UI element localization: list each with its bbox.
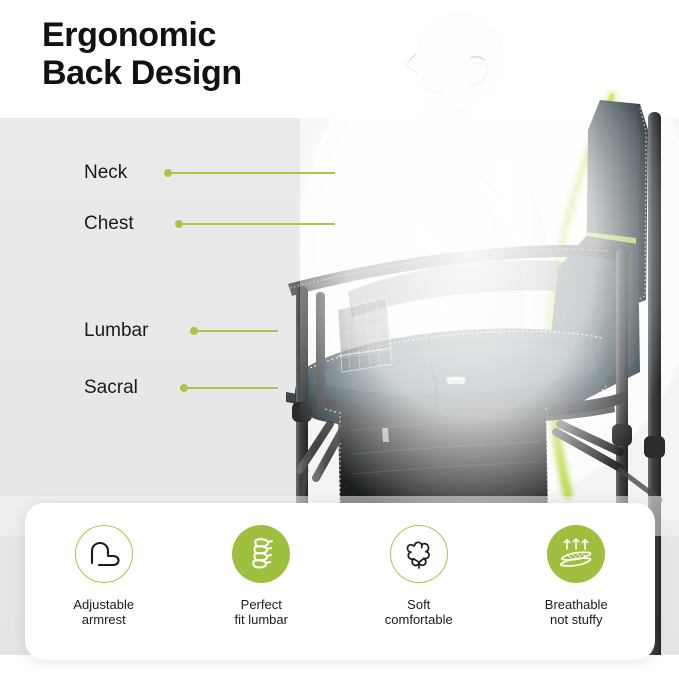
feature-label: Soft comfortable bbox=[385, 597, 453, 627]
callout-neck-label: Neck bbox=[84, 162, 164, 184]
feature-label: Breathable not stuffy bbox=[545, 597, 608, 627]
callout-neck: Neck bbox=[84, 160, 335, 186]
feature-label: Perfect fit lumbar bbox=[235, 597, 288, 627]
callout-chest: Chest bbox=[84, 211, 335, 237]
callout-chest-line bbox=[183, 223, 335, 225]
feature-label: Adjustable armrest bbox=[73, 597, 134, 627]
callout-lumbar-line bbox=[198, 330, 278, 332]
feature-adjustable-armrest[interactable]: Adjustable armrest bbox=[25, 503, 183, 660]
callout-neck-line bbox=[172, 172, 335, 174]
bullet-dot-icon bbox=[175, 220, 183, 228]
callout-lumbar: Lumbar bbox=[84, 318, 278, 344]
bullet-dot-icon bbox=[180, 384, 188, 392]
page-title: Ergonomic Back Design bbox=[42, 16, 462, 92]
armrest-icon bbox=[75, 525, 133, 583]
bullet-dot-icon bbox=[164, 169, 172, 177]
spine-vertebrae-icon bbox=[232, 525, 290, 583]
infographic-page: Ergonomic Back Design Neck Chest Lumbar … bbox=[0, 0, 679, 679]
feature-breathable-not-stuffy[interactable]: Breathable not stuffy bbox=[498, 503, 656, 660]
feature-soft-comfortable[interactable]: Soft comfortable bbox=[340, 503, 498, 660]
callout-lumbar-label: Lumbar bbox=[84, 320, 190, 342]
callout-sacral-line bbox=[188, 387, 278, 389]
callout-chest-label: Chest bbox=[84, 213, 175, 235]
callout-sacral-label: Sacral bbox=[84, 377, 180, 399]
breathable-layers-icon bbox=[547, 525, 605, 583]
feature-card: Adjustable armrest bbox=[25, 503, 655, 660]
feature-perfect-fit-lumbar[interactable]: Perfect fit lumbar bbox=[183, 503, 341, 660]
cotton-boll-icon bbox=[390, 525, 448, 583]
bullet-dot-icon bbox=[190, 327, 198, 335]
callout-sacral: Sacral bbox=[84, 375, 278, 401]
feature-list: Adjustable armrest bbox=[25, 503, 655, 660]
